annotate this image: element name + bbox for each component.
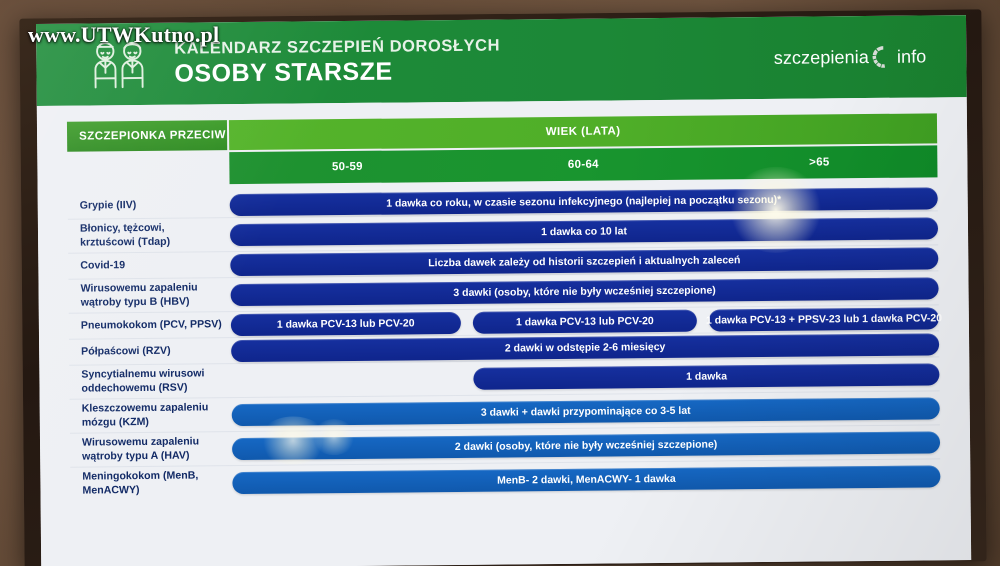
tv-screen: KALENDARZ SZCZEPIEŃ DOROSŁYCH OSOBY STAR… <box>36 15 971 566</box>
vaccine-label: Meningokokom (MenB, MenACWY) <box>70 470 230 499</box>
vaccine-label: Pneumokokom (PCV, PPSV) <box>69 318 229 333</box>
segmented-c-icon <box>870 44 896 70</box>
vaccine-label: Covid-19 <box>68 258 228 273</box>
dose-track: MenB- 2 dawki, MenACWY- 1 dawka <box>232 476 940 483</box>
column-header-vaccine: SZCZEPIONKA PRZECIW <box>67 120 227 152</box>
dose-track: 2 dawki (osoby, które nie były wcześniej… <box>232 442 940 449</box>
dose-track: 3 dawki (osoby, które nie były wcześniej… <box>231 288 939 295</box>
szczepienia-info-logo: szczepienia info <box>774 43 927 70</box>
age-column-header: 60-64 <box>465 148 701 182</box>
dose-bar: 2 dawki w odstępie 2-6 miesięcy <box>231 333 939 362</box>
dose-bar: 1 dawka PCV-13 lub PCV-20 <box>473 309 696 333</box>
vaccine-label: Wirusowemu zapaleniu wątroby typu B (HBV… <box>68 281 228 310</box>
vaccine-label: Syncytialnemu wirusowi oddechowemu (RSV) <box>69 367 229 396</box>
dose-bar: 1 dawka <box>474 363 940 389</box>
dose-bar: 1 dawka co roku, w czasie sezonu infekcy… <box>230 187 938 216</box>
age-column-header: 50-59 <box>229 150 465 184</box>
age-column-header: >65 <box>701 145 937 179</box>
table-row: Meningokokom (MenB, MenACWY)MenB- 2 dawk… <box>70 459 940 501</box>
vaccine-label: Błonicy, tężcowi, krztuścowi (Tdap) <box>68 221 228 250</box>
dose-track: 1 dawka <box>231 374 939 381</box>
vaccine-label: Wirusowemu zapaleniu wątroby typu A (HAV… <box>70 435 230 464</box>
vaccine-label: Kleszczowemu zapaleniu mózgu (KZM) <box>70 401 230 430</box>
dose-track: 2 dawki w odstępie 2-6 miesięcy <box>231 344 939 351</box>
dose-track: Liczba dawek zależy od historii szczepie… <box>230 258 938 265</box>
dose-bar: 1 dawka PCV-13 + PPSV-23 lub 1 dawka PCV… <box>709 307 939 331</box>
banner-kicker: KALENDARZ SZCZEPIEŃ DOROSŁYCH <box>174 36 500 58</box>
table-body: Grypie (IIV)1 dawka co roku, w czasie se… <box>68 185 941 501</box>
dose-bar: 3 dawki + dawki przypominające co 3-5 la… <box>232 397 940 426</box>
brand-word-right: info <box>897 46 927 67</box>
header-spacer <box>67 152 227 186</box>
dose-track: 1 dawka co 10 lat <box>230 228 938 235</box>
page-title: OSOBY STARSZE <box>174 56 500 88</box>
dose-track: 3 dawki + dawki przypominające co 3-5 la… <box>232 408 940 415</box>
dose-track: 1 dawka PCV-13 lub PCV-201 dawka PCV-13 … <box>231 318 939 325</box>
dose-bar: 2 dawki (osoby, które nie były wcześniej… <box>232 431 940 460</box>
table-header-age-row: 50-5960-64>65 <box>67 145 937 185</box>
age-column-group: 50-5960-64>65 <box>229 145 937 184</box>
dose-bar: Liczba dawek zależy od historii szczepie… <box>230 247 938 276</box>
vaccination-table: SZCZEPIONKA PRZECIW WIEK (LATA) 50-5960-… <box>37 97 971 566</box>
dose-bar: 3 dawki (osoby, które nie były wcześniej… <box>231 277 939 306</box>
vaccine-label: Półpaścowi (RZV) <box>69 344 229 359</box>
dose-bar: 1 dawka PCV-13 lub PCV-20 <box>231 311 461 335</box>
brand-word-left: szczepienia <box>774 47 869 69</box>
dose-bar: MenB- 2 dawki, MenACWY- 1 dawka <box>232 465 940 494</box>
vaccine-label: Grypie (IIV) <box>68 198 228 213</box>
dose-bar: 1 dawka co 10 lat <box>230 217 938 246</box>
dose-track: 1 dawka co roku, w czasie sezonu infekcy… <box>230 198 938 205</box>
site-watermark: www.UTWKutno.pl <box>28 22 219 48</box>
column-header-age: WIEK (LATA) <box>229 113 937 150</box>
